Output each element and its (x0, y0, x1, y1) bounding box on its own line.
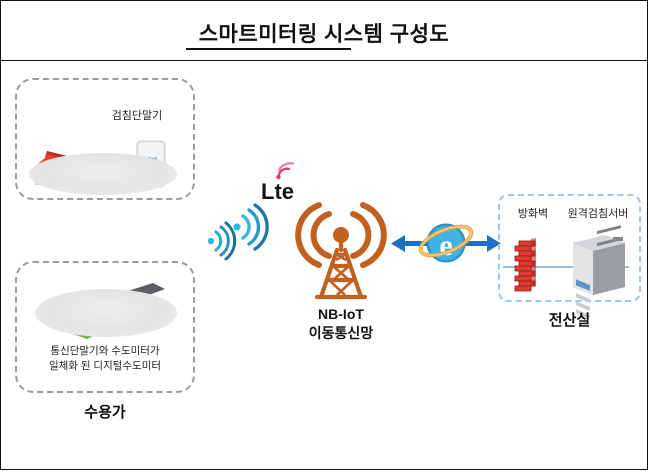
wireless-signal-large (231, 203, 277, 251)
consumer-group-label: 수용가 (15, 401, 195, 422)
title-band: 스마트미터링 시스템 구성도 (1, 1, 647, 61)
firewall-icon (515, 238, 536, 291)
nbiot-cell-tower-icon (297, 194, 385, 302)
internet-explorer-icon: e (417, 221, 475, 262)
diagram-frame: 스마트미터링 시스템 구성도 검침단말기 (0, 0, 648, 470)
house-water-meter-terminal-illustration: 메타 (25, 133, 181, 195)
meter-terminal-label: 검침단말기 (85, 109, 189, 123)
datacenter-group-label: 전산실 (498, 309, 641, 330)
ground-shadow-ellipse (29, 153, 177, 195)
ground-shadow-ellipse-2 (35, 289, 177, 337)
title-underline (186, 48, 351, 50)
datacenter-graphics (501, 219, 637, 297)
digital-water-meter-illustration (31, 275, 183, 341)
nbiot-network-label: NB-IoT 이동통신망 (286, 305, 396, 343)
nbiot-label-line-1: NB-IoT (286, 305, 396, 324)
caption-line-1: 통신단말기와 수도미터가 (21, 344, 189, 359)
server-icon (573, 225, 625, 319)
lte-logo-text: Lte (261, 179, 294, 204)
page-title: 스마트미터링 시스템 구성도 (1, 18, 647, 48)
diagram-canvas: 검침단말기 (1, 61, 649, 469)
nbiot-label-line-2: 이동통신망 (286, 324, 396, 343)
internet-connection-arrow: e (391, 216, 501, 272)
caption-line-2: 일체화 된 디지털수도미터 (21, 359, 189, 374)
digital-meter-caption: 통신단말기와 수도미터가 일체화 된 디지털수도미터 (21, 344, 189, 374)
svg-text:e: e (439, 229, 452, 262)
